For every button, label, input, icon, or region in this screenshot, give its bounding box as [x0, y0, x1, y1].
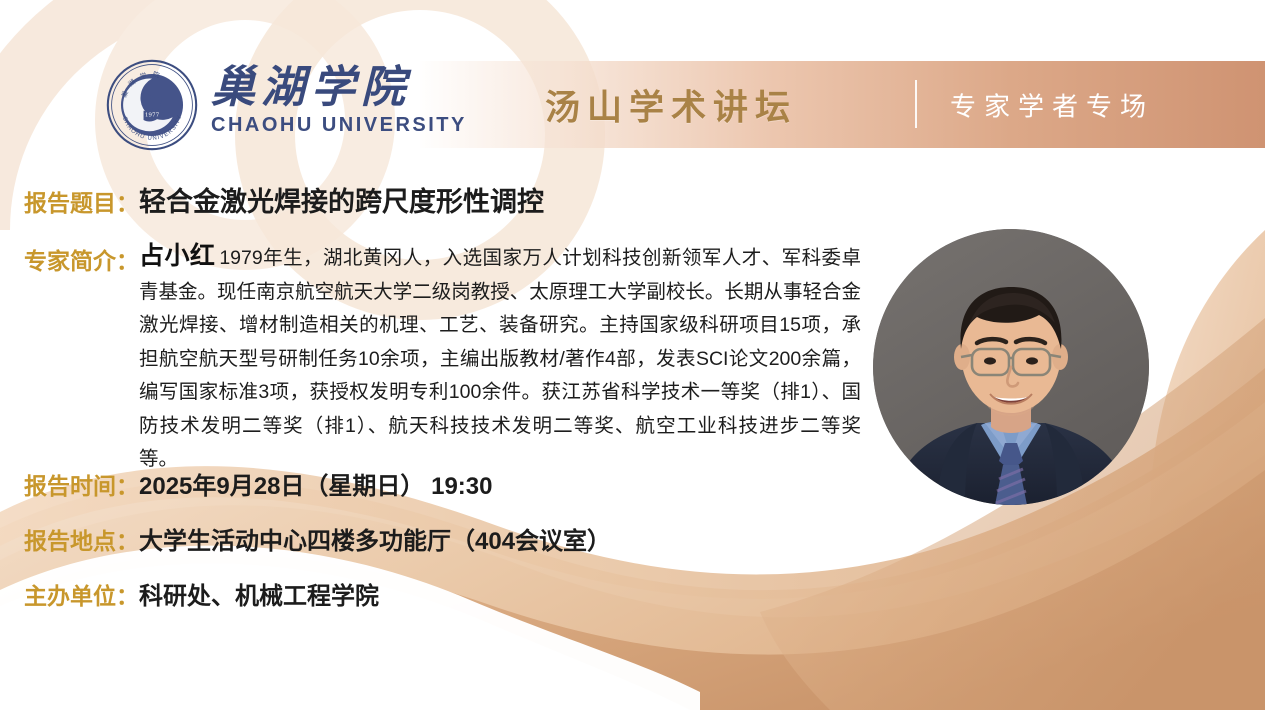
row-lecture-time: 报告时间： 2025年9月28日（星期日） 19:30: [24, 466, 492, 501]
speaker-bio-text: 占小红1979年生，湖北黄冈人，入选国家万人计划科技创新领军人才、军科委卓青基金…: [139, 240, 861, 477]
row-speaker-bio: 专家简介： 占小红1979年生，湖北黄冈人，入选国家万人计划科技创新领军人才、军…: [24, 240, 874, 477]
value-lecture-place: 大学生活动中心四楼多功能厅（404会议室）: [139, 521, 611, 556]
label-lecture-place: 报告地点：: [24, 522, 139, 556]
speaker-bio-paragraph: 1979年生，湖北黄冈人，入选国家万人计划科技创新领军人才、军科委卓青基金。现任…: [139, 247, 861, 470]
value-organizer: 科研处、机械工程学院: [139, 576, 379, 611]
label-organizer: 主办单位：: [24, 577, 139, 611]
label-lecture-time: 报告时间：: [24, 467, 139, 501]
speaker-portrait-image: [873, 229, 1149, 505]
value-lecture-time: 2025年9月28日（星期日） 19:30: [139, 466, 492, 501]
label-lecture-title: 报告题目：: [24, 184, 139, 218]
row-lecture-title: 报告题目： 轻合金激光焊接的跨尺度形性调控: [24, 180, 544, 219]
value-lecture-title: 轻合金激光焊接的跨尺度形性调控: [139, 180, 544, 219]
row-organizer: 主办单位： 科研处、机械工程学院: [24, 576, 379, 611]
speaker-portrait: [873, 229, 1149, 505]
row-lecture-place: 报告地点： 大学生活动中心四楼多功能厅（404会议室）: [24, 521, 611, 556]
speaker-name: 占小红: [139, 242, 215, 270]
poster-root: 汤山学术讲坛 专家学者专场 1977 CHAOHU UNIVERSITY: [0, 0, 1265, 710]
label-speaker-bio: 专家简介：: [24, 240, 139, 276]
